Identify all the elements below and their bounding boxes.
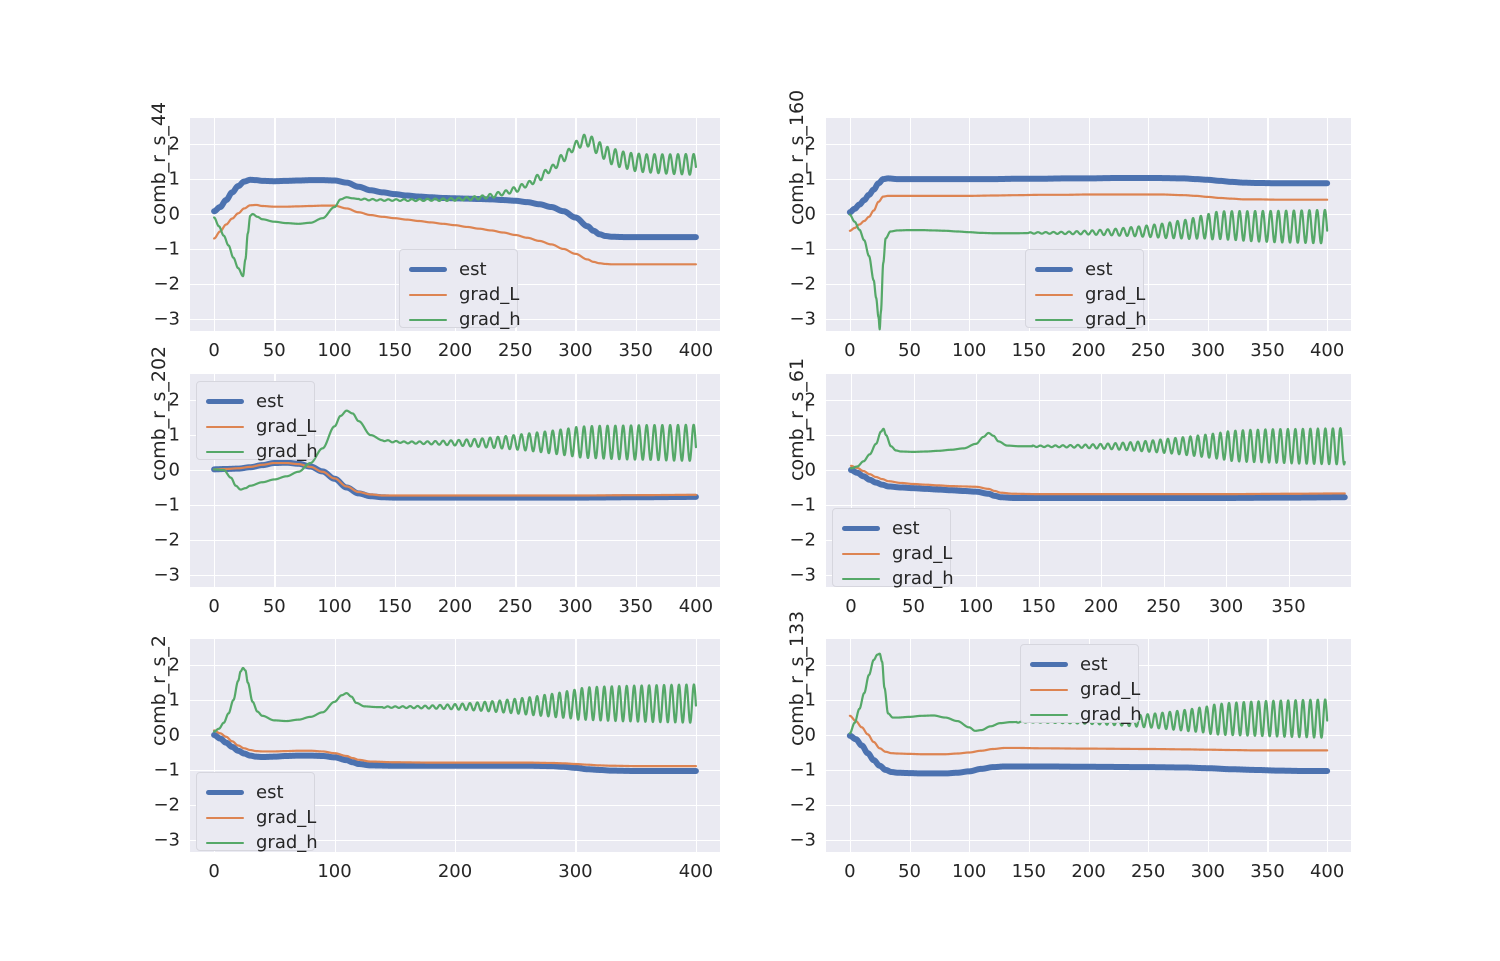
x-tick-label: 200 — [438, 861, 472, 882]
legend-item-grad_L[interactable]: grad_L — [1030, 677, 1127, 702]
legend-label-grad_h: grad_h — [256, 834, 318, 852]
gridline-horizontal — [190, 214, 720, 215]
gridline-vertical — [1267, 639, 1268, 852]
x-tick-label: 350 — [618, 340, 652, 361]
x-tick-label: 300 — [558, 340, 592, 361]
x-tick-label: 100 — [959, 596, 993, 617]
gridline-vertical — [1327, 639, 1328, 852]
x-tick-label: 300 — [1191, 861, 1225, 882]
y-axis-label-comb_r_s_61: comb_r_s_61 — [786, 358, 808, 481]
series-line-grad_L — [214, 730, 696, 766]
x-tick-label: 150 — [1012, 340, 1046, 361]
legend-swatch-est-icon — [1035, 267, 1073, 272]
y-tick-label: 1 — [764, 425, 816, 446]
legend-label-grad_L: grad_L — [256, 809, 316, 827]
x-tick-label: 200 — [1084, 596, 1118, 617]
legend-comb_r_s_160[interactable]: estgrad_Lgrad_h — [1025, 249, 1144, 328]
legend-label-grad_L: grad_L — [892, 545, 952, 563]
gridline-vertical — [1208, 118, 1209, 331]
legend-swatch-est-icon — [206, 399, 244, 404]
x-tick-label: 300 — [558, 861, 592, 882]
x-tick-label: 150 — [378, 340, 412, 361]
gridline-vertical — [969, 639, 970, 852]
x-tick-label: 350 — [1250, 861, 1284, 882]
legend-item-est[interactable]: est — [1035, 257, 1132, 282]
gridline-horizontal — [190, 575, 720, 576]
legend-item-grad_h[interactable]: grad_h — [206, 830, 303, 855]
series-line-grad_h — [214, 668, 696, 732]
x-tick-label: 100 — [317, 340, 351, 361]
y-tick-label: 0 — [764, 460, 816, 481]
legend-swatch-grad_L-icon — [842, 553, 880, 555]
legend-comb_r_s_44[interactable]: estgrad_Lgrad_h — [399, 249, 518, 328]
x-tick-label: 400 — [679, 596, 713, 617]
x-tick-label: 0 — [208, 596, 219, 617]
legend-item-grad_L[interactable]: grad_L — [206, 414, 303, 439]
gridline-vertical — [335, 118, 336, 331]
legend-swatch-grad_h-icon — [1035, 319, 1073, 321]
y-tick-label: 0 — [128, 204, 180, 225]
series-line-est — [850, 736, 1327, 774]
gridline-horizontal — [826, 735, 1351, 736]
x-tick-label: 50 — [263, 340, 286, 361]
legend-swatch-grad_h-icon — [409, 319, 447, 321]
legend-label-est: est — [459, 261, 487, 279]
y-tick-label: 1 — [128, 425, 180, 446]
x-tick-label: 200 — [1071, 861, 1105, 882]
gridline-vertical — [636, 374, 637, 587]
gridline-horizontal — [190, 700, 720, 701]
y-tick-label: −1 — [764, 759, 816, 780]
gridline-vertical — [455, 639, 456, 852]
y-tick-label: 1 — [764, 690, 816, 711]
legend-swatch-grad_h-icon — [206, 842, 244, 844]
gridline-vertical — [214, 118, 215, 331]
legend-label-grad_h: grad_h — [459, 311, 521, 329]
x-tick-label: 50 — [902, 596, 925, 617]
x-tick-label: 150 — [378, 596, 412, 617]
legend-label-grad_L: grad_L — [256, 418, 316, 436]
legend-item-grad_L[interactable]: grad_L — [409, 282, 506, 307]
gridline-vertical — [1226, 374, 1227, 587]
gridline-horizontal — [826, 470, 1351, 471]
legend-label-grad_L: grad_L — [459, 286, 519, 304]
x-tick-label: 250 — [498, 596, 532, 617]
x-tick-label: 0 — [845, 596, 856, 617]
x-tick-label: 200 — [438, 340, 472, 361]
y-tick-label: 1 — [764, 169, 816, 190]
legend-item-grad_L[interactable]: grad_L — [206, 805, 303, 830]
legend-label-est: est — [256, 393, 284, 411]
legend-label-grad_L: grad_L — [1085, 286, 1145, 304]
legend-item-grad_h[interactable]: grad_h — [842, 566, 939, 591]
gridline-vertical — [850, 639, 851, 852]
gridline-horizontal — [826, 144, 1351, 145]
y-tick-label: −3 — [764, 564, 816, 585]
legend-label-est: est — [1080, 656, 1108, 674]
x-tick-label: 0 — [844, 861, 855, 882]
gridline-vertical — [1289, 374, 1290, 587]
gridline-vertical — [910, 639, 911, 852]
gridline-horizontal — [826, 770, 1351, 771]
y-tick-label: 2 — [764, 134, 816, 155]
x-tick-label: 150 — [1012, 861, 1046, 882]
legend-label-grad_h: grad_h — [1085, 311, 1147, 329]
x-tick-label: 400 — [679, 340, 713, 361]
legend-swatch-grad_L-icon — [1035, 294, 1073, 296]
gridline-horizontal — [826, 505, 1351, 506]
gridline-vertical — [395, 118, 396, 331]
y-axis-label-comb_r_s_2: comb_r_s_2 — [148, 635, 170, 746]
gridline-vertical — [969, 118, 970, 331]
legend-swatch-grad_h-icon — [842, 578, 880, 580]
legend-label-grad_h: grad_h — [256, 443, 318, 461]
y-tick-label: −3 — [128, 308, 180, 329]
y-tick-label: −2 — [128, 529, 180, 550]
gridline-vertical — [274, 118, 275, 331]
gridline-horizontal — [190, 144, 720, 145]
x-tick-label: 250 — [1131, 340, 1165, 361]
legend-swatch-est-icon — [409, 267, 447, 272]
gridline-vertical — [696, 639, 697, 852]
y-tick-label: 0 — [764, 725, 816, 746]
gridline-horizontal — [190, 735, 720, 736]
legend-label-est: est — [892, 520, 920, 538]
legend-item-grad_L[interactable]: grad_L — [1035, 282, 1132, 307]
y-tick-label: −2 — [764, 794, 816, 815]
y-tick-label: 0 — [128, 725, 180, 746]
gridline-vertical — [636, 118, 637, 331]
gridline-horizontal — [190, 470, 720, 471]
y-axis-label-comb_r_s_202: comb_r_s_202 — [148, 346, 170, 481]
gridline-vertical — [1164, 374, 1165, 587]
y-tick-label: 2 — [128, 655, 180, 676]
legend-swatch-grad_L-icon — [1030, 689, 1068, 691]
y-tick-label: 1 — [128, 690, 180, 711]
legend-swatch-est-icon — [1030, 662, 1068, 667]
gridline-vertical — [575, 639, 576, 852]
legend-comb_r_s_61[interactable]: estgrad_Lgrad_h — [832, 508, 951, 587]
gridline-horizontal — [826, 435, 1351, 436]
series-line-grad_L — [850, 194, 1327, 230]
legend-label-est: est — [256, 784, 284, 802]
y-tick-label: −3 — [764, 308, 816, 329]
x-tick-label: 250 — [1146, 596, 1180, 617]
gridline-vertical — [1208, 639, 1209, 852]
x-tick-label: 100 — [317, 861, 351, 882]
legend-label-est: est — [1085, 261, 1113, 279]
y-tick-label: −1 — [128, 494, 180, 515]
y-tick-label: −3 — [128, 829, 180, 850]
gridline-vertical — [335, 639, 336, 852]
legend-item-grad_h[interactable]: grad_h — [206, 439, 303, 464]
x-tick-label: 300 — [1209, 596, 1243, 617]
y-tick-label: −1 — [764, 494, 816, 515]
y-tick-label: −2 — [764, 273, 816, 294]
gridline-vertical — [696, 374, 697, 587]
x-tick-label: 250 — [1131, 861, 1165, 882]
gridline-horizontal — [826, 805, 1351, 806]
y-tick-label: −1 — [764, 238, 816, 259]
legend-label-grad_h: grad_h — [1080, 706, 1142, 724]
x-tick-label: 200 — [438, 596, 472, 617]
y-tick-label: −1 — [128, 759, 180, 780]
series-line-est — [850, 178, 1327, 212]
legend-item-est[interactable]: est — [206, 389, 303, 414]
gridline-vertical — [1148, 639, 1149, 852]
chart-panel-comb_r_s_2: 210−1−2−30100200300400comb_r_s_2estgrad_… — [0, 0, 1500, 961]
legend-swatch-grad_L-icon — [206, 817, 244, 819]
y-tick-label: −2 — [128, 273, 180, 294]
x-tick-label: 300 — [1191, 340, 1225, 361]
x-tick-label: 350 — [618, 596, 652, 617]
gridline-vertical — [395, 374, 396, 587]
x-tick-label: 350 — [1271, 596, 1305, 617]
gridline-horizontal — [190, 665, 720, 666]
x-tick-label: 0 — [844, 340, 855, 361]
y-tick-label: 1 — [128, 169, 180, 190]
gridline-vertical — [696, 118, 697, 331]
x-tick-label: 200 — [1071, 340, 1105, 361]
legend-comb_r_s_133[interactable]: estgrad_Lgrad_h — [1020, 644, 1139, 723]
legend-item-grad_h[interactable]: grad_h — [409, 307, 506, 332]
gridline-vertical — [335, 374, 336, 587]
figure-canvas: 210−1−2−3050100150200250300350400comb_r_… — [0, 0, 1500, 961]
y-tick-label: 2 — [128, 390, 180, 411]
gridline-vertical — [910, 118, 911, 331]
legend-item-grad_h[interactable]: grad_h — [1030, 702, 1127, 727]
y-tick-label: −3 — [764, 829, 816, 850]
x-tick-label: 0 — [208, 861, 219, 882]
legend-swatch-grad_L-icon — [206, 426, 244, 428]
y-tick-label: −1 — [128, 238, 180, 259]
gridline-horizontal — [190, 179, 720, 180]
legend-swatch-est-icon — [206, 790, 244, 795]
series-line-est — [214, 180, 696, 237]
legend-swatch-grad_L-icon — [409, 294, 447, 296]
gridline-horizontal — [826, 214, 1351, 215]
series-line-grad_L — [214, 463, 696, 495]
gridline-vertical — [515, 374, 516, 587]
gridline-vertical — [1148, 118, 1149, 331]
series-line-est — [851, 470, 1345, 498]
series-line-est — [214, 735, 696, 771]
legend-item-grad_L[interactable]: grad_L — [842, 541, 939, 566]
legend-label-grad_L: grad_L — [1080, 681, 1140, 699]
legend-item-est[interactable]: est — [842, 516, 939, 541]
y-tick-label: 0 — [128, 460, 180, 481]
gridline-vertical — [976, 374, 977, 587]
gridline-vertical — [1101, 374, 1102, 587]
legend-label-grad_h: grad_h — [892, 570, 954, 588]
y-axis-label-comb_r_s_133: comb_r_s_133 — [786, 611, 808, 746]
x-tick-label: 400 — [1310, 340, 1344, 361]
x-tick-label: 400 — [679, 861, 713, 882]
y-tick-label: 0 — [764, 204, 816, 225]
gridline-horizontal — [826, 400, 1351, 401]
x-tick-label: 100 — [317, 596, 351, 617]
y-axis-label-comb_r_s_160: comb_r_s_160 — [786, 90, 808, 225]
x-tick-label: 350 — [1250, 340, 1284, 361]
gridline-vertical — [575, 118, 576, 331]
series-line-est — [214, 463, 696, 498]
y-tick-label: 2 — [128, 134, 180, 155]
x-tick-label: 50 — [263, 596, 286, 617]
y-axis-label-comb_r_s_44: comb_r_s_44 — [148, 102, 170, 225]
legend-swatch-est-icon — [842, 526, 880, 531]
legend-comb_r_s_2[interactable]: estgrad_Lgrad_h — [196, 772, 315, 851]
gridline-horizontal — [826, 179, 1351, 180]
x-tick-label: 300 — [558, 596, 592, 617]
y-tick-label: −2 — [764, 529, 816, 550]
y-tick-label: −2 — [128, 794, 180, 815]
x-tick-label: 250 — [498, 340, 532, 361]
x-tick-label: 150 — [1021, 596, 1055, 617]
x-tick-label: 100 — [952, 340, 986, 361]
y-tick-label: 2 — [764, 655, 816, 676]
x-tick-label: 50 — [898, 340, 921, 361]
gridline-vertical — [1039, 374, 1040, 587]
gridline-vertical — [850, 118, 851, 331]
gridline-vertical — [455, 374, 456, 587]
gridline-vertical — [575, 374, 576, 587]
legend-item-est[interactable]: est — [409, 257, 506, 282]
y-tick-label: 2 — [764, 390, 816, 411]
legend-item-est[interactable]: est — [206, 780, 303, 805]
gridline-horizontal — [826, 840, 1351, 841]
x-tick-label: 100 — [952, 861, 986, 882]
x-tick-label: 400 — [1310, 861, 1344, 882]
legend-swatch-grad_h-icon — [206, 451, 244, 453]
series-line-grad_h — [851, 428, 1345, 468]
gridline-horizontal — [190, 505, 720, 506]
x-tick-label: 0 — [208, 340, 219, 361]
y-tick-label: −3 — [128, 564, 180, 585]
series-line-grad_L — [851, 466, 1345, 494]
gridline-vertical — [1327, 118, 1328, 331]
legend-comb_r_s_202[interactable]: estgrad_Lgrad_h — [196, 381, 315, 460]
x-tick-label: 50 — [898, 861, 921, 882]
legend-item-est[interactable]: est — [1030, 652, 1127, 677]
gridline-horizontal — [190, 540, 720, 541]
legend-item-grad_h[interactable]: grad_h — [1035, 307, 1132, 332]
legend-swatch-grad_h-icon — [1030, 714, 1068, 716]
gridline-vertical — [1267, 118, 1268, 331]
